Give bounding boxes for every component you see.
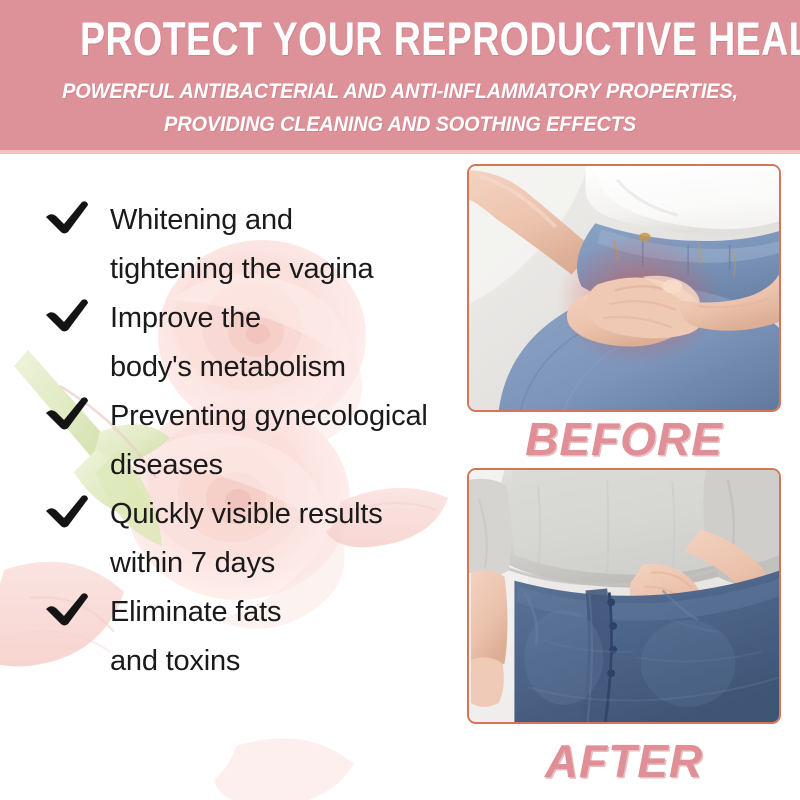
check-icon [44, 396, 90, 430]
list-item-label: Quickly visible results within 7 days [110, 490, 464, 588]
list-item-label: Preventing gynecological diseases [110, 392, 464, 490]
after-photo-image [469, 470, 779, 723]
before-label: BEFORE [467, 412, 781, 466]
list-item-label: Improve the body's metabolism [110, 294, 464, 392]
benefits-list: Whitening and tightening the vagina Impr… [44, 196, 464, 686]
before-photo-image [469, 166, 779, 411]
after-photo [467, 468, 781, 724]
check-icon [44, 592, 90, 626]
list-item-label: Whitening and tightening the vagina [110, 196, 464, 294]
header-subtitle-line-2: PROVIDING CLEANING AND SOOTHING EFFECTS [28, 112, 772, 136]
list-item: Preventing gynecological diseases [44, 392, 464, 490]
check-icon [44, 298, 90, 332]
header-underline [0, 150, 800, 154]
list-item: Quickly visible results within 7 days [44, 490, 464, 588]
check-icon [44, 494, 90, 528]
page-title: PROTECT YOUR REPRODUCTIVE HEALTH [80, 14, 720, 64]
banner-header: PROTECT YOUR REPRODUCTIVE HEALTH POWERFU… [0, 0, 800, 150]
check-icon [44, 200, 90, 234]
product-marketing-banner: PROTECT YOUR REPRODUCTIVE HEALTH POWERFU… [0, 0, 800, 800]
list-item-label: Eliminate fats and toxins [110, 588, 464, 686]
before-photo [467, 164, 781, 412]
list-item: Whitening and tightening the vagina [44, 196, 464, 294]
list-item: Improve the body's metabolism [44, 294, 464, 392]
header-subtitle-line-1: POWERFUL ANTIBACTERIAL AND ANTI-INFLAMMA… [28, 79, 772, 103]
list-item: Eliminate fats and toxins [44, 588, 464, 686]
after-label: AFTER [467, 734, 781, 788]
